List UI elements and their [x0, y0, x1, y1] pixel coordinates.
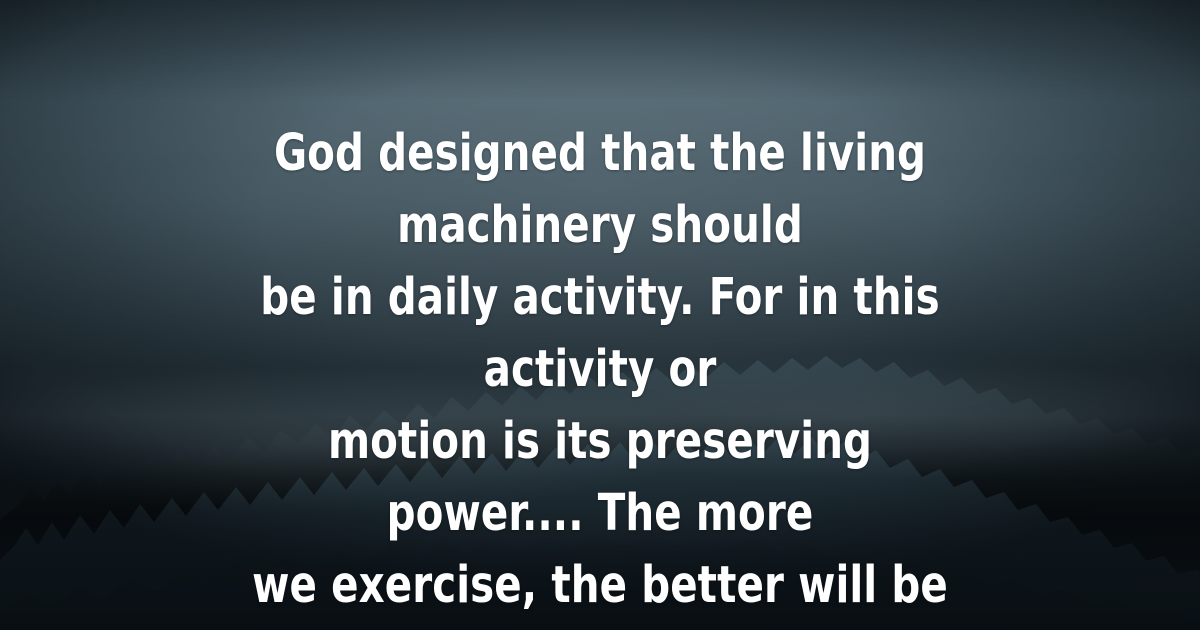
card-content: God designed that the living machinery s…: [0, 0, 1200, 630]
quote-text: God designed that the living machinery s…: [235, 118, 965, 630]
quote-card: God designed that the living machinery s…: [0, 0, 1200, 630]
